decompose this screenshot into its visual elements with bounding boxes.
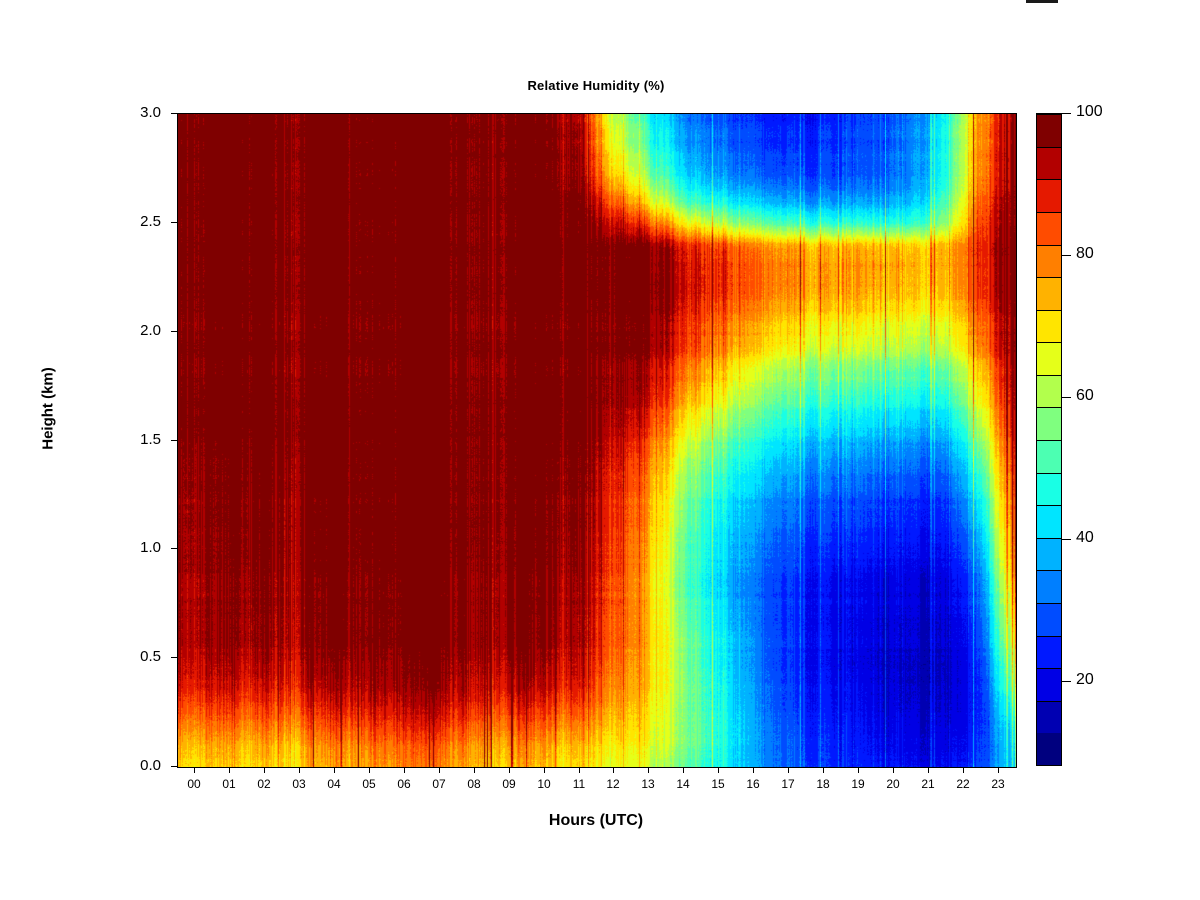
x-tick-label: 10: [529, 777, 559, 791]
colorbar-band: [1037, 636, 1061, 669]
y-tick-mark: [171, 548, 177, 549]
colorbar-tick-mark: [1062, 681, 1071, 682]
colorbar-tick-mark: [1062, 539, 1071, 540]
y-tick-mark: [171, 657, 177, 658]
y-tick-label: 1.5: [115, 431, 161, 448]
x-tick-mark: [334, 767, 335, 773]
page-title: Relative Humidity (%): [177, 78, 1015, 93]
x-tick-label: 13: [633, 777, 663, 791]
x-tick-label: 12: [598, 777, 628, 791]
colorbar-band: [1037, 179, 1061, 212]
colorbar-tick-label: 20: [1076, 671, 1094, 689]
colorbar-band: [1037, 212, 1061, 245]
y-tick-mark: [171, 766, 177, 767]
colorbar-band: [1037, 538, 1061, 571]
x-tick-label: 21: [913, 777, 943, 791]
y-tick-mark: [171, 113, 177, 114]
x-tick-label: 04: [319, 777, 349, 791]
y-tick-mark: [171, 331, 177, 332]
x-tick-mark: [404, 767, 405, 773]
x-tick-label: 06: [389, 777, 419, 791]
x-tick-label: 02: [249, 777, 279, 791]
x-tick-label: 07: [424, 777, 454, 791]
top-edge-artifact: [1026, 0, 1058, 3]
y-tick-label: 2.0: [115, 322, 161, 339]
colorbar-tick-mark: [1062, 397, 1071, 398]
colorbar-band: [1037, 473, 1061, 506]
x-tick-mark: [893, 767, 894, 773]
x-tick-label: 03: [284, 777, 314, 791]
x-tick-mark: [718, 767, 719, 773]
colorbar-tick-label: 40: [1076, 529, 1094, 547]
x-tick-mark: [229, 767, 230, 773]
x-tick-label: 05: [354, 777, 384, 791]
x-tick-mark: [788, 767, 789, 773]
x-tick-mark: [439, 767, 440, 773]
figure-canvas: Relative Humidity (%) 0.00.51.01.52.02.5…: [0, 0, 1200, 900]
colorbar-band: [1037, 342, 1061, 375]
y-axis-label: Height (km): [40, 339, 57, 479]
y-tick-label: 0.0: [115, 757, 161, 774]
colorbar-band: [1037, 505, 1061, 538]
x-tick-label: 23: [983, 777, 1013, 791]
x-axis-label: Hours (UTC): [177, 812, 1015, 830]
x-tick-label: 18: [808, 777, 838, 791]
x-tick-mark: [648, 767, 649, 773]
colorbar-tick-label: 80: [1076, 245, 1094, 263]
colorbar-tick-label: 100: [1076, 103, 1103, 121]
colorbar-band: [1037, 147, 1061, 180]
x-tick-label: 20: [878, 777, 908, 791]
x-tick-mark: [613, 767, 614, 773]
x-tick-mark: [753, 767, 754, 773]
colorbar-tick-label: 60: [1076, 387, 1094, 405]
x-tick-mark: [194, 767, 195, 773]
colorbar-band: [1037, 310, 1061, 343]
x-tick-mark: [544, 767, 545, 773]
x-tick-label: 22: [948, 777, 978, 791]
colorbar-band: [1037, 668, 1061, 701]
x-tick-label: 11: [564, 777, 594, 791]
colorbar-band: [1037, 245, 1061, 278]
colorbar-band: [1037, 733, 1061, 765]
y-tick-label: 0.5: [115, 648, 161, 665]
colorbar: 20406080100: [1036, 113, 1062, 766]
x-tick-mark: [264, 767, 265, 773]
x-tick-mark: [823, 767, 824, 773]
colorbar-band: [1037, 114, 1061, 147]
colorbar-band: [1037, 440, 1061, 473]
y-tick-label: 2.5: [115, 213, 161, 230]
x-tick-mark: [683, 767, 684, 773]
x-tick-mark: [928, 767, 929, 773]
y-tick-label: 1.0: [115, 539, 161, 556]
x-tick-label: 15: [703, 777, 733, 791]
colorbar-band: [1037, 603, 1061, 636]
x-tick-mark: [369, 767, 370, 773]
x-tick-mark: [963, 767, 964, 773]
y-tick-mark: [171, 222, 177, 223]
colorbar-band: [1037, 570, 1061, 603]
colorbar-band: [1037, 375, 1061, 408]
x-tick-label: 09: [494, 777, 524, 791]
x-tick-label: 01: [214, 777, 244, 791]
colorbar-band: [1037, 407, 1061, 440]
colorbar-tick-mark: [1062, 113, 1071, 114]
x-tick-mark: [858, 767, 859, 773]
y-tick-label: 3.0: [115, 104, 161, 121]
colorbar-strip: [1036, 113, 1062, 766]
x-tick-mark: [998, 767, 999, 773]
y-tick-mark: [171, 440, 177, 441]
relative-humidity-heatmap: [178, 114, 1016, 767]
x-tick-label: 08: [459, 777, 489, 791]
x-tick-mark: [474, 767, 475, 773]
colorbar-band: [1037, 701, 1061, 734]
heatmap-plot-area[interactable]: [177, 113, 1017, 768]
colorbar-band: [1037, 277, 1061, 310]
x-tick-mark: [299, 767, 300, 773]
x-tick-label: 17: [773, 777, 803, 791]
x-tick-label: 00: [179, 777, 209, 791]
x-tick-mark: [509, 767, 510, 773]
x-tick-label: 14: [668, 777, 698, 791]
colorbar-tick-mark: [1062, 255, 1071, 256]
x-tick-mark: [579, 767, 580, 773]
x-tick-label: 16: [738, 777, 768, 791]
x-tick-label: 19: [843, 777, 873, 791]
